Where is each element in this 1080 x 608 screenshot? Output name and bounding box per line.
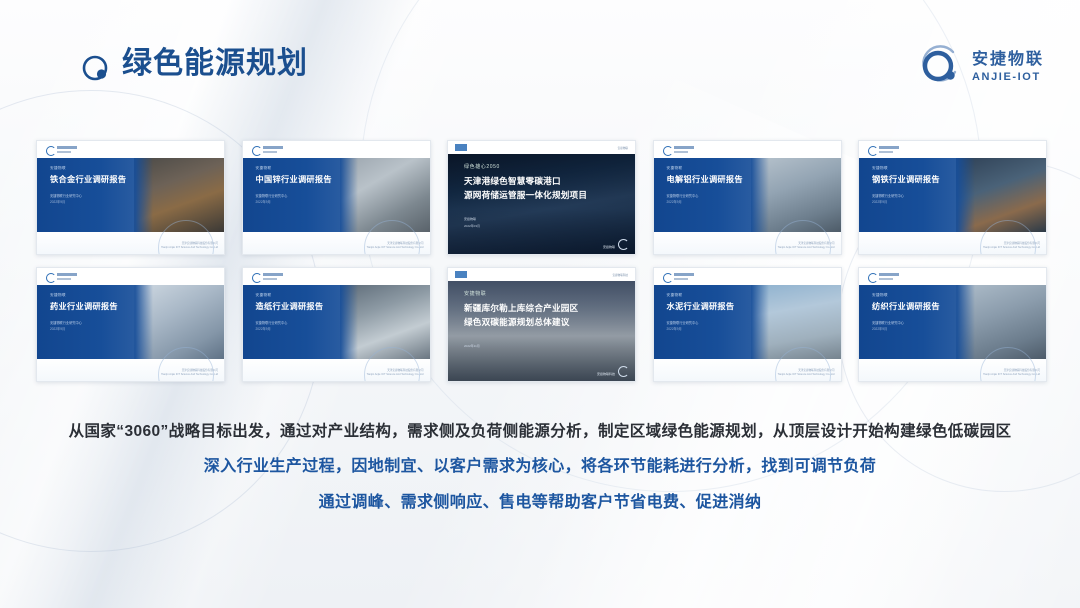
card-footer-line-2: Tianjin Anjie IOT Science And Technology… xyxy=(367,373,424,377)
card-report-cover: 安捷物联中国锌行业调研报告安捷物联行业研究中心2022年9月天津安捷物联科技股份… xyxy=(243,141,430,254)
report-card[interactable]: 安捷物联铁合金行业调研报告安捷物联行业研究中心2022年9月天津安捷物联科技股份… xyxy=(36,140,225,255)
card-top-bar: 安捷物联科技 xyxy=(448,268,635,281)
card-footer-line-2: Tianjin Anjie IOT Science And Technology… xyxy=(778,246,835,250)
publisher-sub-placeholder xyxy=(674,151,688,153)
publisher-name-placeholder xyxy=(879,146,899,149)
card-footer-line-2: Tianjin Anjie IOT Science And Technology… xyxy=(778,373,835,377)
publisher-name-placeholder xyxy=(879,273,899,276)
card-corner-logo-icon xyxy=(618,366,629,377)
publisher-logo-icon xyxy=(252,146,262,156)
card-top-bar xyxy=(37,268,224,285)
publisher-sub-placeholder xyxy=(263,278,277,280)
card-meta-2: 2022年9月 xyxy=(667,326,682,331)
publisher-logo-icon xyxy=(46,146,56,156)
card-meta-2: 2022年9月 xyxy=(872,199,887,204)
card-title-line-2: 源网荷储运管服一体化规划项目 xyxy=(464,189,587,201)
card-top-note: 安捷物联科技 xyxy=(612,273,628,277)
publisher-logo-icon xyxy=(46,273,56,283)
card-title: 造纸行业调研报告 xyxy=(256,300,324,312)
report-card[interactable]: 安捷物联钢铁行业调研报告安捷物联行业研究中心2022年9月天津安捷物联科技股份有… xyxy=(858,140,1047,255)
card-meta-2: 2022年03月 xyxy=(464,224,480,228)
card-footer: 天津安捷物联科技股份有限公司Tianjin Anjie IOT Science … xyxy=(367,242,424,250)
anjie-ring-dot-logo-icon xyxy=(917,44,963,90)
card-eyebrow: 安捷物联 xyxy=(50,166,66,171)
card-eyebrow: 安捷物联 xyxy=(256,293,272,298)
card-meta-1: 安捷物联行业研究中心 xyxy=(667,320,699,325)
report-card[interactable]: 安捷物联纺织行业调研报告安捷物联行业研究中心2022年9月天津安捷物联科技股份有… xyxy=(858,267,1047,382)
card-footer-line-2: Tianjin Anjie IOT Science And Technology… xyxy=(983,246,1040,250)
report-card[interactable]: 安捷物联造纸行业调研报告安捷物联行业研究中心2022年9月天津安捷物联科技股份有… xyxy=(242,267,431,382)
publisher-name-placeholder xyxy=(57,273,77,276)
publisher-name-placeholder xyxy=(263,273,283,276)
card-footer: 天津安捷物联科技股份有限公司Tianjin Anjie IOT Science … xyxy=(983,369,1040,377)
card-title: 药业行业调研报告 xyxy=(50,300,118,312)
card-meta-1: 安捷物联行业研究中心 xyxy=(256,320,288,325)
card-title: 铁合金行业调研报告 xyxy=(50,173,126,185)
card-top-bar xyxy=(654,268,841,285)
card-report-cover: 安捷物联水泥行业调研报告安捷物联行业研究中心2022年9月天津安捷物联科技股份有… xyxy=(654,268,841,381)
card-title-line-2: 绿色双碳能源规划总体建议 xyxy=(464,316,570,328)
publisher-logo-icon xyxy=(663,146,673,156)
publisher-name-placeholder xyxy=(263,146,283,149)
card-title-line-1: 天津港绿色智慧零碳港口 xyxy=(464,175,561,187)
summary-text-block: 从国家“3060”战略目标出发，通过对产业结构，需求侧及负荷侧能源分析，制定区域… xyxy=(0,415,1080,521)
card-footer: 天津安捷物联科技股份有限公司Tianjin Anjie IOT Science … xyxy=(983,242,1040,250)
card-meta-1: 安捷物联行业研究中心 xyxy=(256,193,288,198)
card-feature-cover: 安捷物联绿色雄心2050天津港绿色智慧零碳港口源网荷储运管服一体化规划项目安捷物… xyxy=(448,141,635,254)
card-meta-2: 2022年9月 xyxy=(50,199,65,204)
publisher-sub-placeholder xyxy=(879,151,893,153)
card-title: 水泥行业调研报告 xyxy=(667,300,735,312)
card-meta-1: 2022年11月 xyxy=(464,344,480,348)
card-footer-line-2: Tianjin Anjie IOT Science And Technology… xyxy=(983,373,1040,377)
report-card[interactable]: 安捷物联电解铝行业调研报告安捷物联行业研究中心2022年9月天津安捷物联科技股份… xyxy=(653,140,842,255)
card-title: 钢铁行业调研报告 xyxy=(872,173,940,185)
card-footer: 安捷物联 xyxy=(603,245,615,249)
card-eyebrow: 安捷物联 xyxy=(667,166,683,171)
card-top-bar xyxy=(654,141,841,158)
card-meta-2: 2022年9月 xyxy=(50,326,65,331)
card-top-bar xyxy=(859,268,1046,285)
publisher-mark-icon xyxy=(455,271,467,278)
card-meta-2: 2022年9月 xyxy=(872,326,887,331)
card-footer: 天津安捷物联科技股份有限公司Tianjin Anjie IOT Science … xyxy=(367,369,424,377)
summary-line-3: 通过调峰、需求侧响应、售电等帮助客户节省电费、促进消纳 xyxy=(0,485,1080,521)
card-meta-1: 安捷物联 xyxy=(464,217,476,221)
card-meta-1: 安捷物联行业研究中心 xyxy=(50,193,82,198)
card-eyebrow: 安捷物联 xyxy=(464,290,486,297)
report-card[interactable]: 安捷物联中国锌行业调研报告安捷物联行业研究中心2022年9月天津安捷物联科技股份… xyxy=(242,140,431,255)
report-card[interactable]: 安捷物联科技安捷物联新疆库尔勒上库综合产业园区绿色双碳能源规划总体建议2022年… xyxy=(447,267,636,382)
card-footer: 天津安捷物联科技股份有限公司Tianjin Anjie IOT Science … xyxy=(778,369,835,377)
report-card[interactable]: 安捷物联绿色雄心2050天津港绿色智慧零碳港口源网荷储运管服一体化规划项目安捷物… xyxy=(447,140,636,255)
publisher-logo-icon xyxy=(868,146,878,156)
report-card[interactable]: 安捷物联水泥行业调研报告安捷物联行业研究中心2022年9月天津安捷物联科技股份有… xyxy=(653,267,842,382)
card-top-bar xyxy=(243,141,430,158)
card-meta-2: 2022年9月 xyxy=(256,326,271,331)
card-footer: 安捷物联科技 xyxy=(597,372,615,376)
publisher-sub-placeholder xyxy=(263,151,277,153)
card-report-cover: 安捷物联铁合金行业调研报告安捷物联行业研究中心2022年9月天津安捷物联科技股份… xyxy=(37,141,224,254)
card-meta-2: 2022年9月 xyxy=(667,199,682,204)
corp-name-cn: 安捷物联 xyxy=(972,52,1044,68)
slide-canvas: 绿色能源规划 安捷物联 ANJIE-IOT 安捷物联铁合金行业调研报告安捷物联行… xyxy=(0,0,1080,608)
summary-line-2: 深入行业生产过程，因地制宜、以客户需求为核心，将各环节能耗进行分析，找到可调节负… xyxy=(0,449,1080,485)
card-eyebrow: 安捷物联 xyxy=(256,166,272,171)
card-feature-cover: 安捷物联科技安捷物联新疆库尔勒上库综合产业园区绿色双碳能源规划总体建议2022年… xyxy=(448,268,635,381)
card-title: 纺织行业调研报告 xyxy=(872,300,940,312)
card-meta-2: 2022年9月 xyxy=(256,199,271,204)
card-report-cover: 安捷物联电解铝行业调研报告安捷物联行业研究中心2022年9月天津安捷物联科技股份… xyxy=(654,141,841,254)
card-footer: 天津安捷物联科技股份有限公司Tianjin Anjie IOT Science … xyxy=(778,242,835,250)
card-top-bar xyxy=(243,268,430,285)
publisher-sub-placeholder xyxy=(879,278,893,280)
publisher-logo-icon xyxy=(252,273,262,283)
card-top-note: 安捷物联 xyxy=(618,146,628,150)
publisher-sub-placeholder xyxy=(57,278,71,280)
publisher-name-placeholder xyxy=(674,146,694,149)
card-report-cover: 安捷物联钢铁行业调研报告安捷物联行业研究中心2022年9月天津安捷物联科技股份有… xyxy=(859,141,1046,254)
report-card[interactable]: 安捷物联药业行业调研报告安捷物联行业研究中心2022年9月天津安捷物联科技股份有… xyxy=(36,267,225,382)
card-eyebrow: 安捷物联 xyxy=(50,293,66,298)
card-footer-line-2: Tianjin Anjie IOT Science And Technology… xyxy=(161,246,218,250)
publisher-name-placeholder xyxy=(57,146,77,149)
card-title-line-1: 新疆库尔勒上库综合产业园区 xyxy=(464,302,578,314)
card-footer: 天津安捷物联科技股份有限公司Tianjin Anjie IOT Science … xyxy=(161,369,218,377)
card-footer-line-2: Tianjin Anjie IOT Science And Technology… xyxy=(367,246,424,250)
card-meta-1: 安捷物联行业研究中心 xyxy=(872,320,904,325)
card-title: 中国锌行业调研报告 xyxy=(256,173,332,185)
card-top-bar: 安捷物联 xyxy=(448,141,635,154)
circle-overlap-logo-icon xyxy=(63,41,113,87)
card-meta-1: 安捷物联行业研究中心 xyxy=(667,193,699,198)
publisher-sub-placeholder xyxy=(674,278,688,280)
slide-header: 绿色能源规划 安捷物联 ANJIE-IOT xyxy=(0,0,1080,122)
card-title: 电解铝行业调研报告 xyxy=(667,173,743,185)
card-meta-1: 安捷物联行业研究中心 xyxy=(50,320,82,325)
publisher-logo-icon xyxy=(663,273,673,283)
page-title: 绿色能源规划 xyxy=(122,44,308,84)
publisher-sub-placeholder xyxy=(57,151,71,153)
card-eyebrow: 安捷物联 xyxy=(872,166,888,171)
summary-line-1: 从国家“3060”战略目标出发，通过对产业结构，需求侧及负荷侧能源分析，制定区域… xyxy=(0,415,1080,449)
card-footer-line-2: Tianjin Anjie IOT Science And Technology… xyxy=(161,373,218,377)
card-eyebrow: 绿色雄心2050 xyxy=(464,163,500,170)
card-report-cover: 安捷物联纺织行业调研报告安捷物联行业研究中心2022年9月天津安捷物联科技股份有… xyxy=(859,268,1046,381)
report-thumbnail-grid: 安捷物联铁合金行业调研报告安捷物联行业研究中心2022年9月天津安捷物联科技股份… xyxy=(36,140,1044,380)
card-corner-logo-icon xyxy=(618,239,629,250)
card-meta-1: 安捷物联行业研究中心 xyxy=(872,193,904,198)
publisher-name-placeholder xyxy=(674,273,694,276)
card-top-bar xyxy=(859,141,1046,158)
card-top-bar xyxy=(37,141,224,158)
publisher-mark-icon xyxy=(455,144,467,151)
card-footer: 天津安捷物联科技股份有限公司Tianjin Anjie IOT Science … xyxy=(161,242,218,250)
publisher-logo-icon xyxy=(868,273,878,283)
card-report-cover: 安捷物联药业行业调研报告安捷物联行业研究中心2022年9月天津安捷物联科技股份有… xyxy=(37,268,224,381)
corp-name-en: ANJIE-IOT xyxy=(972,72,1044,83)
corporate-logo: 安捷物联 ANJIE-IOT xyxy=(917,40,1044,94)
card-report-cover: 安捷物联造纸行业调研报告安捷物联行业研究中心2022年9月天津安捷物联科技股份有… xyxy=(243,268,430,381)
card-eyebrow: 安捷物联 xyxy=(667,293,683,298)
card-eyebrow: 安捷物联 xyxy=(872,293,888,298)
